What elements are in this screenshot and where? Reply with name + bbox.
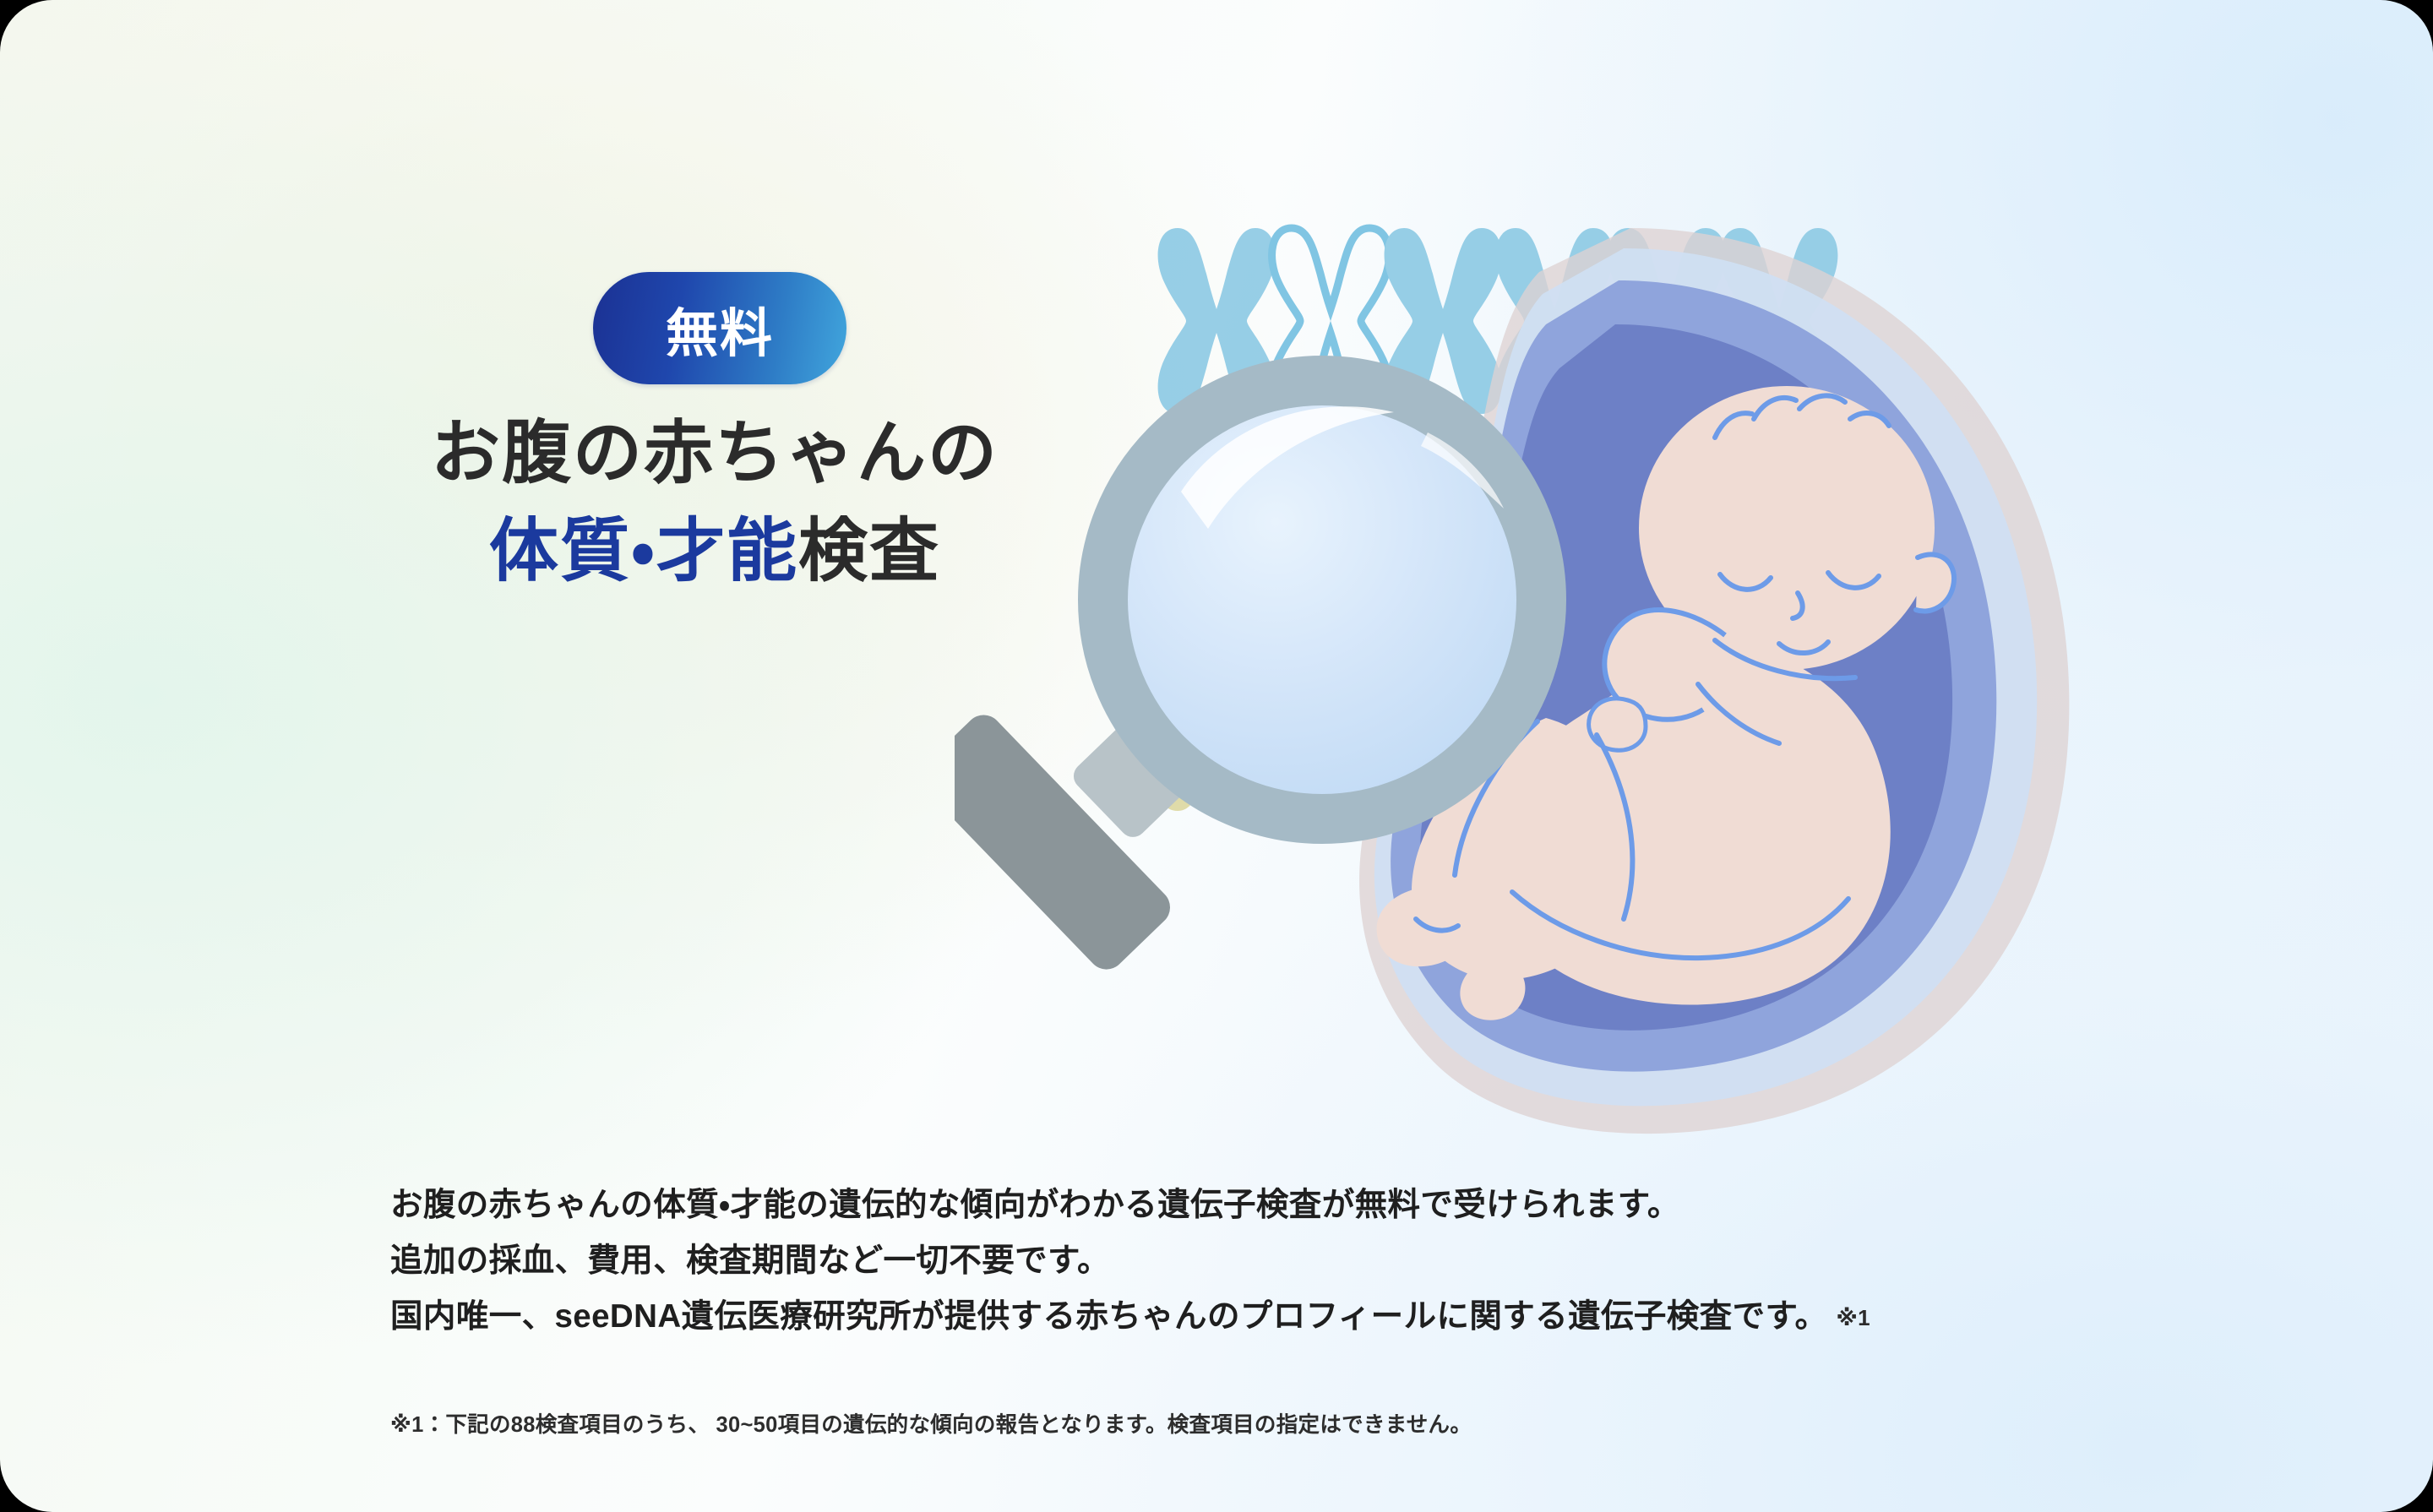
headline-line-1: お腹の赤ちゃんの (394, 405, 1036, 503)
headline-tail-text: 検査 (798, 513, 940, 590)
headline-line-2: 体質・才能検査 (394, 503, 1036, 601)
headline-accent-text: 体質・才能 (489, 513, 798, 590)
free-badge: 無料 (593, 272, 846, 384)
page-title: お腹の赤ちゃんの 体質・才能検査 (394, 405, 1036, 601)
description-paragraph: お腹の赤ちゃんの体質・才能の遺伝的な傾向がわかる遺伝子検査が無料で受けられます。… (390, 1178, 2164, 1346)
footnote-reference-marker: ※1 (1836, 1305, 1870, 1330)
hero-copy-block: 無料 お腹の赤ちゃんの 体質・才能検査 (394, 272, 1238, 601)
description-line-3: 国内唯一、seeDNA遺伝医療研究所が提供する赤ちゃんのプロフィールに関する遺伝… (390, 1289, 2164, 1345)
description-line-2: 追加の採血、費用、検査期間など一切不要です。 (390, 1233, 2164, 1289)
promo-hero-banner: 無料 お腹の赤ちゃんの 体質・才能検査 お腹の赤ちゃんの体質・才能の遺伝的な傾向… (0, 0, 2433, 1512)
description-line-3-text: 国内唯一、seeDNA遺伝医療研究所が提供する赤ちゃんのプロフィールに関する遺伝… (390, 1298, 1827, 1335)
description-line-1: お腹の赤ちゃんの体質・才能の遺伝的な傾向がわかる遺伝子検査が無料で受けられます。 (390, 1178, 2164, 1233)
footnote-text: ※1：下記の88検査項目のうち、 30~50項目の遺伝的な傾向の報告となります。… (390, 1407, 1472, 1439)
